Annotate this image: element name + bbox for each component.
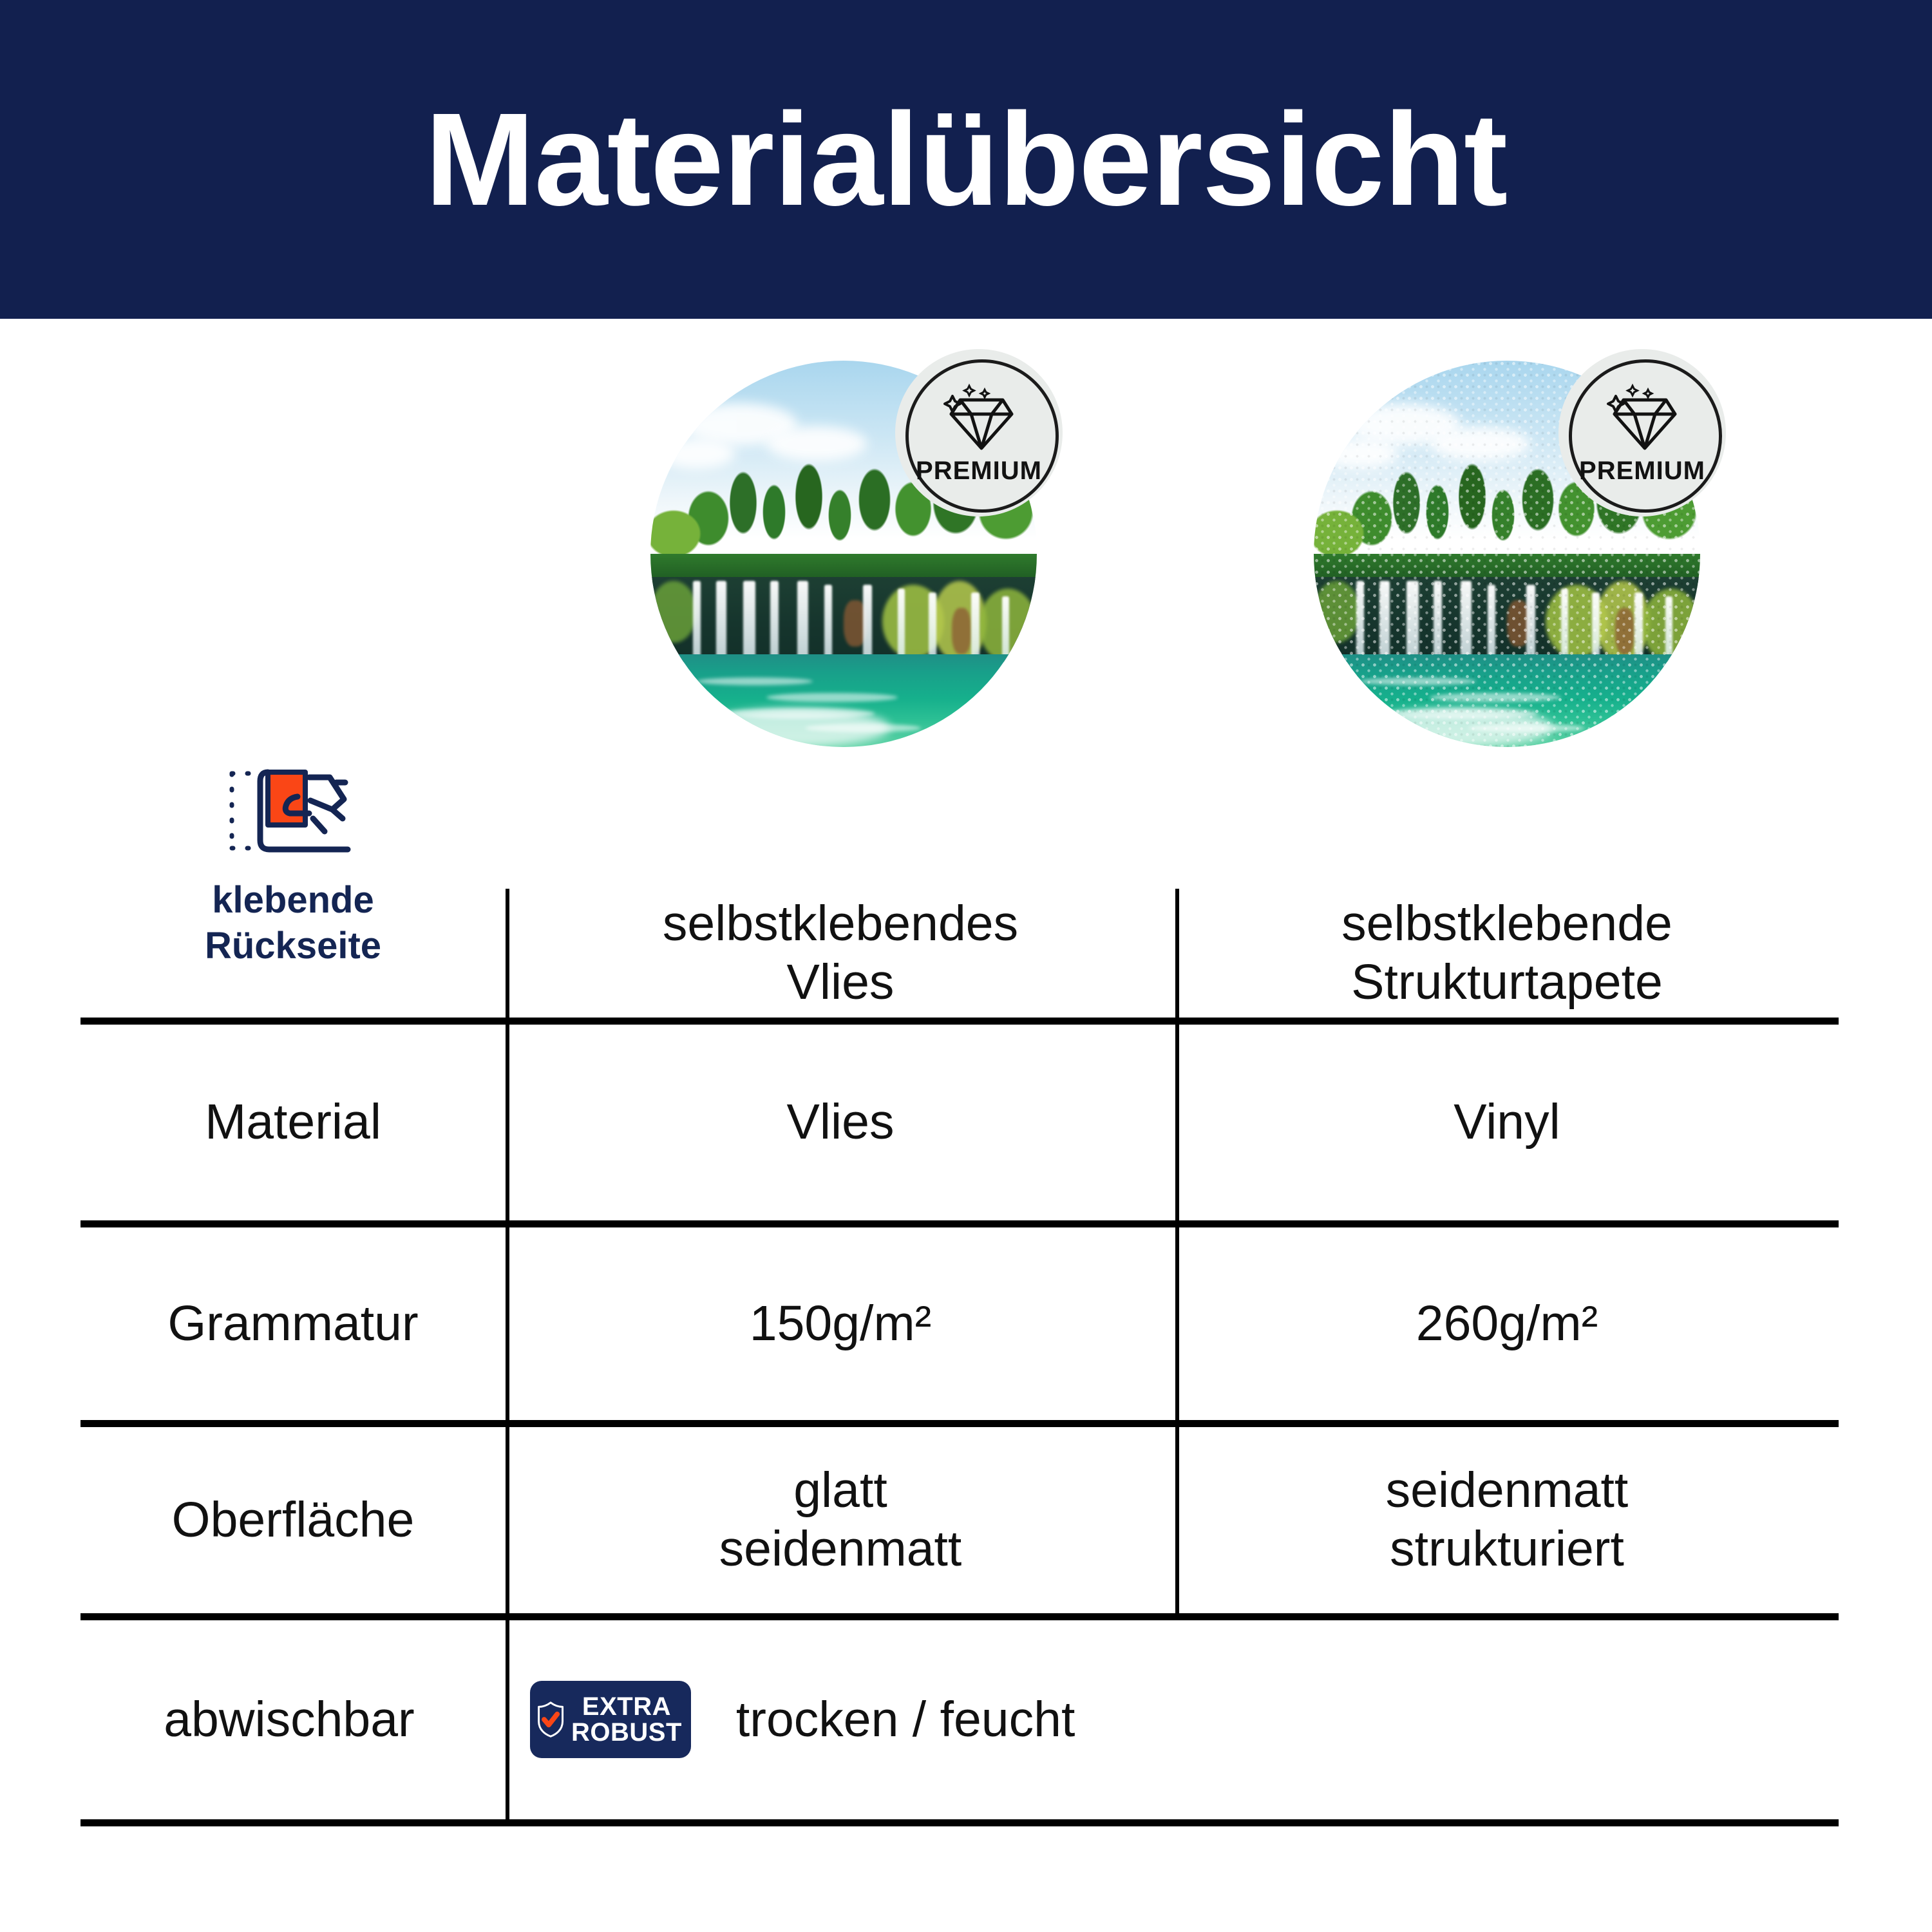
cell-grammatur-vlies: 150g/m²: [506, 1315, 1175, 1332]
moss: [650, 581, 697, 643]
rock: [1615, 608, 1634, 654]
cell-oberflaeche-vlies: glatt seidenmatt: [506, 1511, 1175, 1528]
material-overview-infographic: Materialübersicht: [0, 0, 1932, 1932]
waterfall-stream: [770, 581, 779, 658]
waterfall-stream: [1461, 581, 1472, 662]
waterfall-stream: [1665, 596, 1672, 658]
peel-sticker-hand-icon: [225, 763, 361, 866]
extra-robust-line2: ROBUST: [571, 1719, 682, 1745]
waterfall-stream: [716, 581, 726, 662]
waterfall-stream: [743, 581, 755, 662]
premium-label: PREMIUM: [1579, 458, 1705, 484]
material-comparison-table: klebende Rückseite selbstklebendes Vlies…: [80, 757, 1839, 1823]
waterfall-stream: [1434, 581, 1442, 658]
cell-material-vinyl: Vinyl: [1175, 1114, 1839, 1130]
shield-check-icon: [536, 1689, 565, 1750]
header-strukturtapete-line1: selbstklebende: [1341, 895, 1672, 953]
cell-oberflaeche-vlies-line2: seidenmatt: [719, 1520, 962, 1578]
material-samples: PREMIUM: [0, 319, 1932, 770]
water-foam: [1368, 708, 1553, 747]
waterfall-stream: [824, 585, 832, 658]
page-header: Materialübersicht: [0, 0, 1932, 319]
cell-oberflaeche-strukturtapete-line2: strukturiert: [1386, 1520, 1629, 1578]
row-label-oberflaeche: Oberfläche: [80, 1491, 506, 1549]
cell-abwischbar-value: EXTRA ROBUST trocken / feucht: [498, 1681, 1839, 1758]
premium-badge: PREMIUM: [1558, 349, 1726, 516]
waterfall-stream: [863, 585, 872, 658]
rock: [952, 608, 971, 654]
premium-label: PREMIUM: [916, 458, 1042, 484]
waterfall-stream: [898, 589, 905, 658]
header-strukturtapete-line2: Strukturtapete: [1341, 953, 1672, 1012]
diamond-icon: [941, 382, 1017, 454]
cell-oberflaeche-strukturtapete-line1: seidenmatt: [1386, 1461, 1629, 1520]
waterfall-stream: [1561, 589, 1568, 658]
table-row: Grammatur 150g/m² 260g/m²: [80, 1227, 1839, 1420]
waterfall-stream: [797, 581, 808, 662]
waterfall-stream: [1379, 581, 1390, 662]
waterfall-stream: [1406, 581, 1419, 662]
waterfall-stream: [693, 581, 701, 658]
table-bottom-rule: [80, 1819, 1839, 1826]
extra-robust-line1: EXTRA: [571, 1694, 682, 1719]
sample-selbstklebende-strukturtapete: PREMIUM: [1314, 361, 1700, 747]
waterfall-stream: [1356, 581, 1364, 658]
cell-oberflaeche-vlies-line1: glatt: [719, 1461, 962, 1520]
waterfall-stream: [929, 592, 936, 658]
water-foam: [705, 708, 890, 747]
cell-material-vlies: Vlies: [506, 1113, 1175, 1131]
table-row: Oberfläche glatt seidenmatt seidenmatt s…: [80, 1426, 1839, 1613]
waterfall-stream: [1526, 585, 1535, 658]
sample-selbstklebendes-vlies: PREMIUM: [650, 361, 1037, 747]
table-header-row: selbstklebendes Vlies selbstklebende Str…: [80, 889, 1839, 1018]
water-ripple: [1360, 677, 1476, 685]
waterfall-stream: [1592, 592, 1600, 658]
waterfall-stream: [1634, 592, 1643, 658]
moss: [1314, 581, 1360, 643]
table-row: abwischbar EXTRA ROBUST trocken / feucht: [80, 1620, 1839, 1819]
header-vlies-line2: Vlies: [663, 953, 1018, 1012]
header-vlies-line1: selbstklebendes: [663, 895, 1018, 953]
water-ripple: [697, 677, 813, 685]
row-label-abwischbar: abwischbar: [80, 1690, 498, 1749]
extra-robust-badge: EXTRA ROBUST: [530, 1681, 691, 1758]
table-row: Material Vlies Vinyl: [80, 1024, 1839, 1220]
waterfall-stream: [971, 592, 980, 658]
abwischbar-text: trocken / feucht: [736, 1690, 1075, 1749]
premium-badge: PREMIUM: [895, 349, 1063, 516]
cell-grammatur-strukturtapete: 260g/m²: [1175, 1316, 1839, 1331]
header-cell-vlies: selbstklebendes Vlies: [506, 947, 1175, 959]
row-label-grammatur: Grammatur: [80, 1294, 506, 1353]
page-title: Materialübersicht: [425, 93, 1507, 225]
header-cell-strukturtapete: selbstklebende Strukturtapete: [1175, 948, 1839, 958]
waterfall-stream: [1002, 596, 1009, 658]
cell-oberflaeche-strukturtapete: seidenmatt strukturiert: [1175, 1512, 1839, 1527]
waterfall-stream: [1488, 585, 1495, 658]
row-label-material: Material: [80, 1093, 506, 1151]
diamond-icon: [1604, 382, 1680, 454]
